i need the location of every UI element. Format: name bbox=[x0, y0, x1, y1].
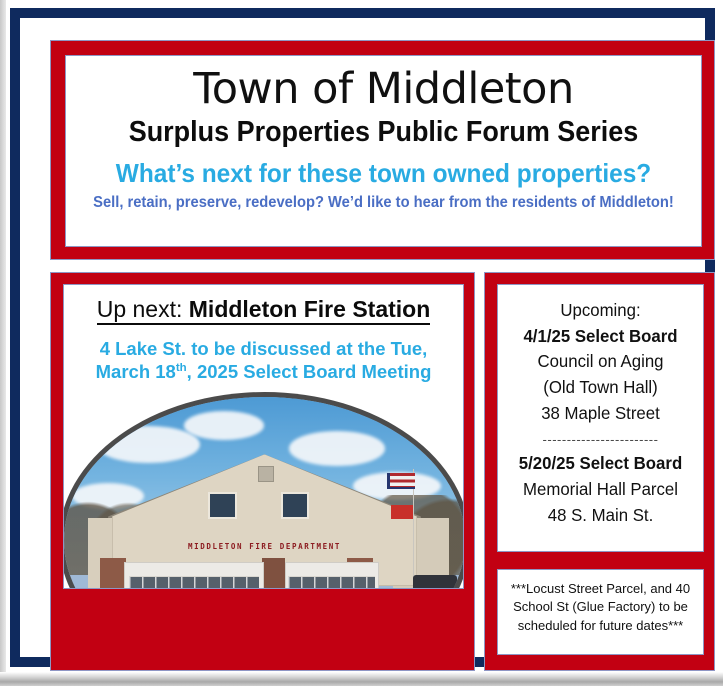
future-dates-note: ***Locust Street Parcel, and 40 School S… bbox=[498, 570, 703, 635]
photo-oval-mask: MIDDLETON FIRE DEPARTMENT bbox=[64, 397, 464, 589]
gable-window-right bbox=[281, 492, 310, 519]
navy-outer-frame: Town of Middleton Surplus Properties Pub… bbox=[10, 8, 715, 667]
future-dates-note-box: ***Locust Street Parcel, and 40 School S… bbox=[497, 569, 704, 655]
note-line-1: ***Locust Street Parcel, and 40 bbox=[511, 581, 690, 596]
meeting-date-ordinal: th bbox=[176, 362, 187, 374]
header-white-box: Town of Middleton Surplus Properties Pub… bbox=[65, 55, 702, 247]
upcoming-entry-1-date: 5/20/25 Select Board bbox=[502, 451, 699, 477]
up-next-label: Up next: bbox=[97, 296, 189, 322]
meeting-details: 4 Lake St. to be discussed at the Tue, M… bbox=[64, 338, 463, 383]
upcoming-entry-1-venue: Memorial Hall Parcel bbox=[502, 477, 699, 503]
fire-station-photo: MIDDLETON FIRE DEPARTMENT bbox=[64, 397, 464, 589]
tagline-subtext: Sell, retain, preserve, redevelop? We’d … bbox=[82, 195, 685, 211]
cloud bbox=[96, 426, 200, 463]
note-line-2: School St (Glue Factory) to be bbox=[513, 599, 688, 614]
flyer-canvas: Town of Middleton Surplus Properties Pub… bbox=[44, 40, 721, 671]
apparatus-bay-door-right bbox=[285, 562, 379, 589]
header-red-panel: Town of Middleton Surplus Properties Pub… bbox=[50, 40, 715, 260]
building-sign-text: MIDDLETON FIRE DEPARTMENT bbox=[64, 542, 464, 551]
parked-vehicle bbox=[413, 575, 457, 589]
meeting-line-2-post: , 2025 Select Board Meeting bbox=[187, 361, 432, 382]
brick-pier-left bbox=[100, 558, 126, 589]
cloud bbox=[289, 431, 385, 465]
upcoming-white-box: Upcoming: 4/1/25 Select Board Council on… bbox=[497, 284, 704, 552]
photo-scene: MIDDLETON FIRE DEPARTMENT bbox=[64, 397, 464, 589]
note-line-3: scheduled for future dates*** bbox=[518, 618, 684, 633]
upcoming-red-panel: Upcoming: 4/1/25 Select Board Council on… bbox=[484, 272, 715, 671]
upcoming-heading: Upcoming: bbox=[502, 285, 699, 324]
up-next-value: Middleton Fire Station bbox=[189, 296, 431, 322]
upcoming-entry-0-venue-note: (Old Town Hall) bbox=[502, 375, 699, 401]
page-gutter-bottom bbox=[0, 672, 723, 686]
feature-red-panel: Up next: Middleton Fire Station 4 Lake S… bbox=[50, 272, 475, 671]
american-flag-icon bbox=[387, 473, 415, 489]
cloud bbox=[184, 411, 264, 440]
bay-door-glass bbox=[288, 576, 375, 589]
page-subtitle: Surplus Properties Public Forum Series bbox=[88, 117, 679, 147]
page-title: Town of Middleton bbox=[66, 68, 701, 111]
flyer-page: Town of Middleton Surplus Properties Pub… bbox=[0, 0, 723, 686]
up-next-heading: Up next: Middleton Fire Station bbox=[97, 297, 431, 325]
gable-window-left bbox=[208, 492, 237, 519]
upcoming-entry-0-venue: Council on Aging bbox=[502, 349, 699, 375]
page-gutter-left bbox=[0, 0, 6, 686]
bay-door-glass bbox=[129, 576, 259, 589]
secondary-flag-icon bbox=[391, 505, 413, 519]
meeting-line-1: 4 Lake St. to be discussed at the Tue, bbox=[100, 338, 428, 359]
attic-vent bbox=[258, 466, 274, 482]
upcoming-entry-1-address: 48 S. Main St. bbox=[502, 503, 699, 529]
upcoming-entry-0-address: 38 Maple Street bbox=[502, 401, 699, 427]
upcoming-entry-0-date: 4/1/25 Select Board bbox=[502, 324, 699, 350]
brick-pier-middle bbox=[262, 558, 284, 589]
tagline-question: What’s next for these town owned propert… bbox=[85, 160, 682, 187]
upcoming-divider: ------------------------ bbox=[498, 432, 703, 448]
meeting-date-pre: March 18 bbox=[96, 361, 176, 382]
feature-white-box: Up next: Middleton Fire Station 4 Lake S… bbox=[63, 284, 464, 589]
apparatus-bay-door-left bbox=[124, 562, 264, 589]
